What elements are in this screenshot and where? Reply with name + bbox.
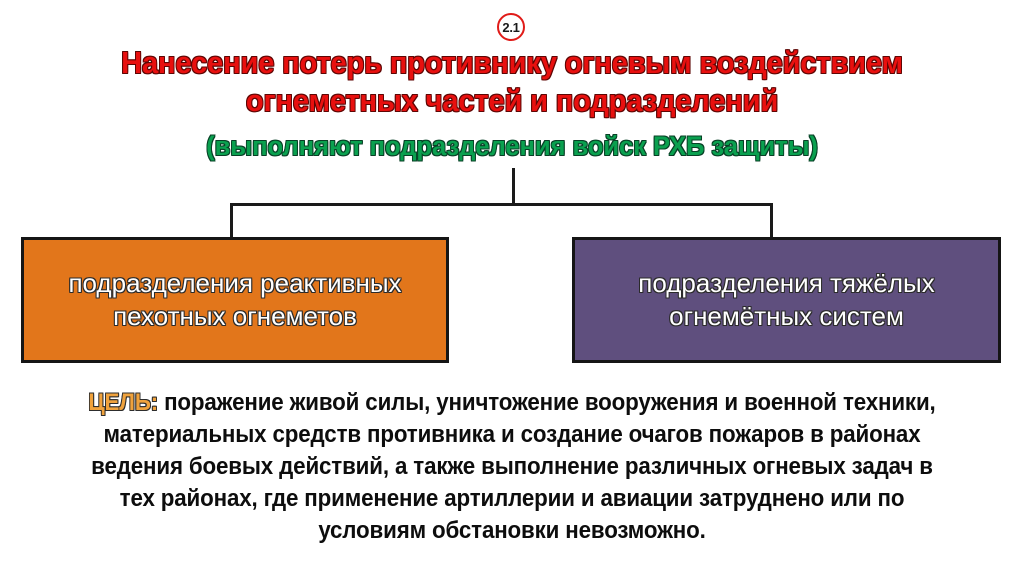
connector-stem-vertical: [512, 168, 515, 205]
node-right-label: подразделения тяжёлых огнемётных систем: [575, 267, 998, 333]
slide-number-text: 2.1: [502, 21, 519, 34]
goal-label: ЦЕЛЬ:: [88, 389, 158, 416]
goal-paragraph: ЦЕЛЬ: поражение живой силы, уничтожение …: [80, 387, 943, 547]
title-line-2: огнеметных частей и подразделений: [31, 82, 994, 120]
connector-drop-right: [770, 203, 773, 239]
node-reactive-infantry-flamethrowers: подразделения реактивных пехотных огнеме…: [21, 237, 449, 363]
goal-body: поражение живой силы, уничтожение вооруж…: [91, 389, 935, 544]
node-heavy-flamethrower-systems: подразделения тяжёлых огнемётных систем: [572, 237, 1001, 363]
connector-horizontal-bar: [230, 203, 773, 206]
page-title: Нанесение потерь противнику огневым возд…: [0, 44, 1024, 120]
node-left-label: подразделения реактивных пехотных огнеме…: [24, 267, 446, 333]
slide-number-badge: 2.1: [497, 13, 525, 41]
title-line-1: Нанесение потерь противнику огневым возд…: [31, 44, 994, 82]
connector-drop-left: [230, 203, 233, 239]
page-subtitle: (выполняют подразделения войск РХБ защит…: [26, 130, 999, 162]
slide-canvas: 2.1 Нанесение потерь противнику огневым …: [0, 0, 1024, 574]
